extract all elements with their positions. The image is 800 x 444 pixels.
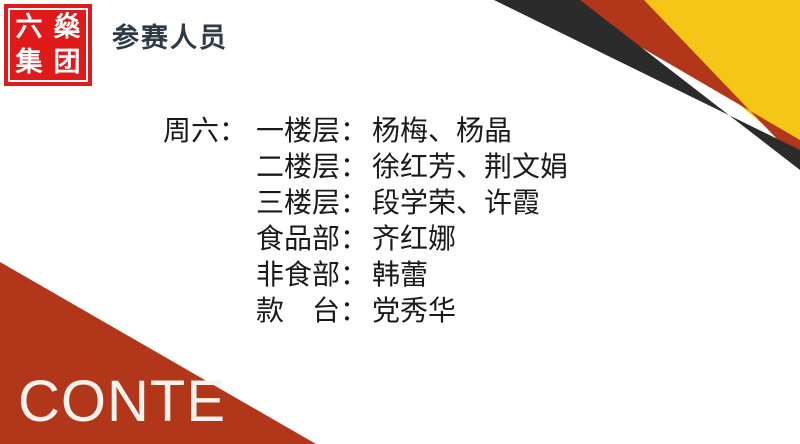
roster-dept-label: 二楼层： bbox=[256, 149, 372, 185]
roster-names: 段学荣、许霞 bbox=[372, 185, 540, 221]
page-title: 参赛人员 bbox=[112, 23, 228, 55]
list-item: 三楼层： 段学荣、许霞 bbox=[0, 185, 800, 221]
roster-day-label: 周六： bbox=[0, 113, 256, 149]
roster-list: 周六： 一楼层： 杨梅、杨晶 二楼层： 徐红芳、荆文娟 三楼层： 段学荣、许霞 … bbox=[0, 113, 800, 329]
list-item: 二楼层： 徐红芳、荆文娟 bbox=[0, 149, 800, 185]
roster-dept-label: 一楼层： bbox=[256, 113, 372, 149]
footer-wordmark: CONTE bbox=[18, 372, 226, 432]
roster-names: 徐红芳、荆文娟 bbox=[372, 149, 568, 185]
logo-frame: 六 燊 集 团 bbox=[8, 8, 88, 82]
roster-dept-label: 三楼层： bbox=[256, 185, 372, 221]
list-item: 款 台： 党秀华 bbox=[0, 293, 800, 329]
roster-dept-label: 非食部： bbox=[256, 257, 372, 293]
roster-names: 齐红娜 bbox=[372, 221, 456, 257]
roster-names: 党秀华 bbox=[372, 293, 456, 329]
list-item: 非食部： 韩蕾 bbox=[0, 257, 800, 293]
roster-names: 韩蕾 bbox=[372, 257, 428, 293]
logo-char-1: 六 bbox=[16, 14, 43, 41]
logo-char-2: 燊 bbox=[54, 14, 81, 41]
list-item: 周六： 一楼层： 杨梅、杨晶 bbox=[0, 113, 800, 149]
list-item: 食品部： 齐红娜 bbox=[0, 221, 800, 257]
roster-dept-label: 食品部： bbox=[256, 221, 372, 257]
roster-names: 杨梅、杨晶 bbox=[372, 113, 512, 149]
slide-canvas: 六 燊 集 团 参赛人员 周六： 一楼层： 杨梅、杨晶 二楼层： 徐红芳、荆文娟… bbox=[0, 0, 800, 444]
roster-dept-label: 款 台： bbox=[256, 293, 372, 329]
company-logo: 六 燊 集 团 bbox=[4, 4, 92, 86]
logo-char-4: 团 bbox=[54, 49, 81, 76]
logo-char-3: 集 bbox=[16, 49, 43, 76]
